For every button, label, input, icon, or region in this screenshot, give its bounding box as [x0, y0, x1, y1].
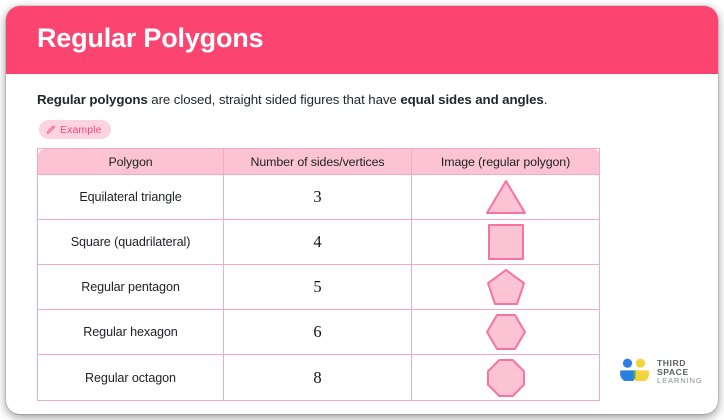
- table-row: Square (quadrilateral) 4: [38, 220, 600, 265]
- pencil-icon: [46, 125, 56, 135]
- column-header-polygon: Polygon: [38, 149, 224, 175]
- cell-polygon-name: Square (quadrilateral): [38, 220, 224, 265]
- table-row: Regular pentagon 5: [38, 265, 600, 310]
- octagon-shape: [486, 369, 526, 386]
- triangle-shape: [485, 188, 527, 205]
- cell-polygon-name: Regular hexagon: [38, 310, 224, 355]
- third-space-learning-mark-icon: [619, 358, 650, 386]
- cell-shape-image: [412, 355, 600, 401]
- hexagon-shape: [485, 323, 527, 340]
- column-header-image: Image (regular polygon): [412, 149, 600, 175]
- description-period: .: [544, 92, 548, 107]
- description-bold-lead: Regular polygons: [37, 92, 148, 107]
- cell-sides-count: 5: [224, 265, 412, 310]
- cell-shape-image: [412, 175, 600, 220]
- description-bold-tail: equal sides and angles: [400, 92, 543, 107]
- cell-polygon-name: Regular octagon: [38, 355, 224, 401]
- brand-logo: THIRD SPACE LEARNING: [619, 358, 718, 386]
- table-row: Regular octagon 8: [38, 355, 600, 401]
- cell-sides-count: 4: [224, 220, 412, 265]
- cell-polygon-name: Equilateral triangle: [38, 175, 224, 220]
- cell-sides-count: 8: [224, 355, 412, 401]
- pentagon-shape: [486, 278, 526, 295]
- table-row: Regular hexagon 6: [38, 310, 600, 355]
- description-middle: are closed, straight sided figures that …: [148, 92, 401, 107]
- example-badge-label: Example: [60, 124, 102, 136]
- cell-shape-image: [412, 310, 600, 355]
- cell-shape-image: [412, 220, 600, 265]
- table-header-row: Polygon Number of sides/vertices Image (…: [38, 149, 600, 175]
- brand-line-1: THIRD SPACE: [657, 359, 718, 378]
- example-badge[interactable]: Example: [39, 120, 111, 139]
- lesson-card: Regular Polygons Regular polygons are cl…: [6, 6, 718, 414]
- square-shape: [487, 233, 525, 250]
- brand-wordmark: THIRD SPACE LEARNING: [657, 359, 718, 386]
- table-row: Equilateral triangle 3: [38, 175, 600, 220]
- column-header-sides: Number of sides/vertices: [224, 149, 412, 175]
- cell-polygon-name: Regular pentagon: [38, 265, 224, 310]
- brand-line-2: LEARNING: [657, 377, 718, 385]
- page-title: Regular Polygons: [37, 23, 263, 54]
- cell-shape-image: [412, 265, 600, 310]
- header-band: Regular Polygons: [6, 6, 718, 74]
- cell-sides-count: 6: [224, 310, 412, 355]
- description-text: Regular polygons are closed, straight si…: [37, 92, 547, 107]
- cell-sides-count: 3: [224, 175, 412, 220]
- polygon-table: Polygon Number of sides/vertices Image (…: [37, 148, 600, 401]
